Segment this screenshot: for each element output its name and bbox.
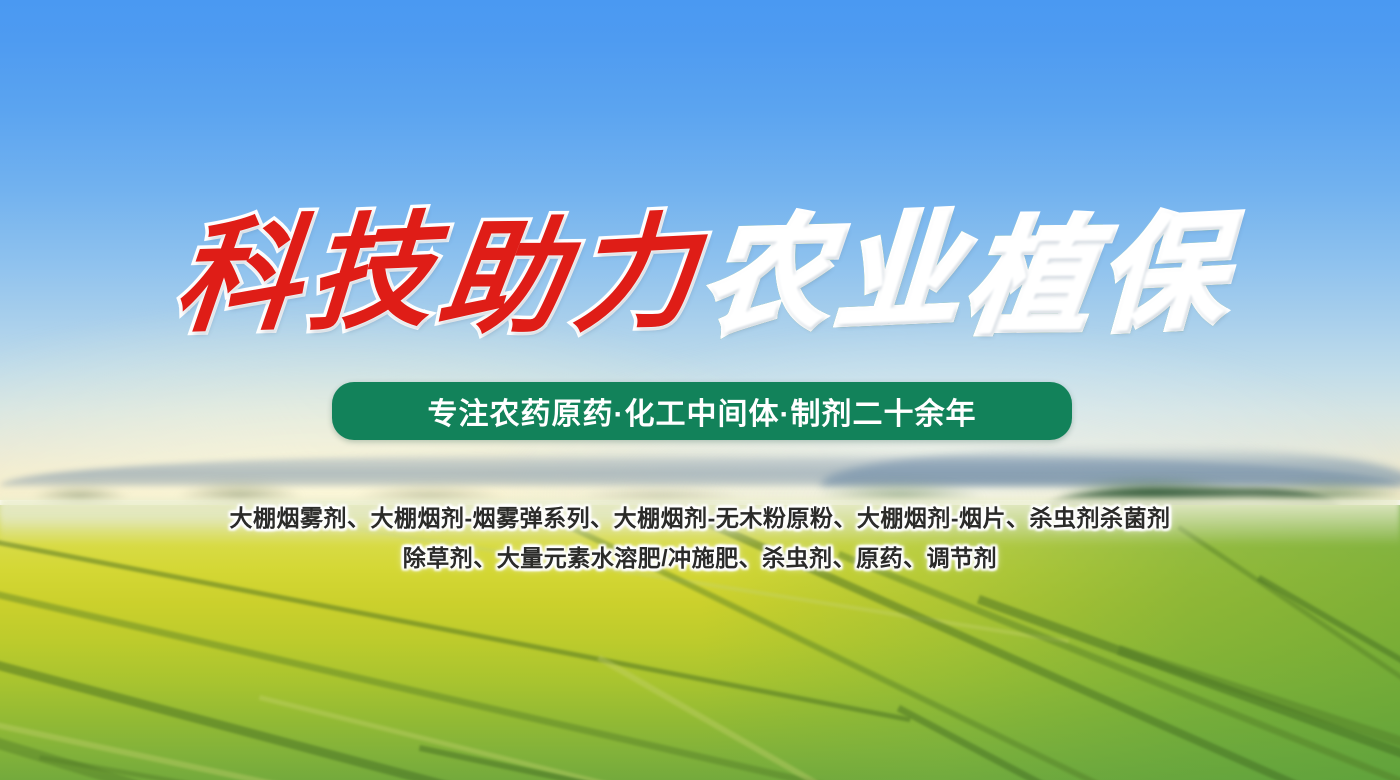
product-list: 大棚烟雾剂、大棚烟剂-烟雾弹系列、大棚烟剂-无木粉原粉、大棚烟剂-烟片、杀虫剂杀… (0, 498, 1400, 578)
product-line-2: 除草剂、大量元素水溶肥/冲施肥、杀虫剂、原药、调节剂 (0, 538, 1400, 578)
product-line-1: 大棚烟雾剂、大棚烟剂-烟雾弹系列、大棚烟剂-无木粉原粉、大棚烟剂-烟片、杀虫剂杀… (0, 498, 1400, 538)
subtitle-pill: 专注农药原药·化工中间体·制剂二十余年 (332, 382, 1072, 440)
field-track-4 (0, 677, 1091, 780)
promo-banner: 科技助力农业植保 专注农药原药·化工中间体·制剂二十余年 大棚烟雾剂、大棚烟剂-… (0, 0, 1400, 780)
field-track-13 (259, 695, 1376, 780)
field-track-9 (837, 551, 1400, 780)
field-track-2 (0, 557, 971, 780)
subtitle-text: 专注农药原药·化工中间体·制剂二十余年 (428, 389, 977, 433)
